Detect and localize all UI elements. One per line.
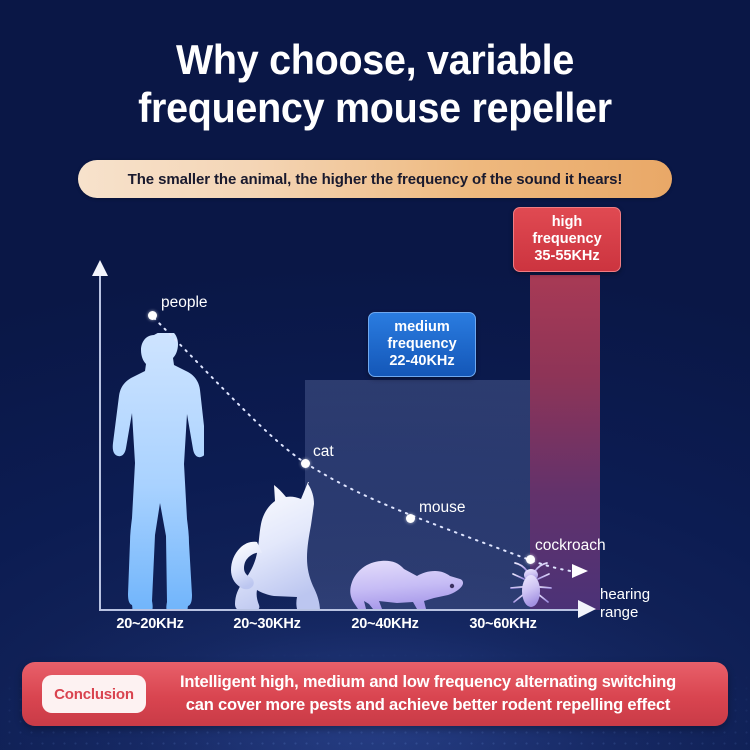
high-frequency-badge: high frequency 35-55KHz	[513, 207, 621, 272]
medium-badge-line-2: frequency	[379, 336, 465, 353]
medium-badge-line-1: medium	[379, 319, 465, 336]
data-label-mouse: mouse	[419, 499, 466, 517]
x-axis-arrow-icon	[578, 600, 596, 618]
conclusion-line-1: Intelligent high, medium and low frequen…	[180, 673, 676, 691]
data-point-mouse	[406, 514, 415, 523]
high-badge-line-1: high	[524, 214, 610, 231]
conclusion-bar: Conclusion Intelligent high, medium and …	[22, 662, 728, 726]
high-badge-line-3: 35-55KHz	[524, 248, 610, 265]
x-tick-label-1: 20~20KHz	[95, 616, 205, 632]
conclusion-text: Intelligent high, medium and low frequen…	[146, 671, 728, 717]
data-label-cockroach: cockroach	[535, 537, 606, 555]
infographic-page: Why choose, variable frequency mouse rep…	[0, 0, 750, 750]
conclusion-line-2: can cover more pests and achieve better …	[146, 694, 710, 717]
medium-frequency-badge: medium frequency 22-40KHz	[368, 312, 476, 377]
data-label-cat: cat	[313, 443, 334, 461]
conclusion-pill-label: Conclusion	[54, 686, 134, 703]
x-tick-label-3: 20~40KHz	[330, 616, 440, 632]
frequency-chart: people cat mouse cockroach high frequenc…	[0, 0, 750, 660]
data-point-cockroach	[526, 555, 535, 564]
x-axis-line	[99, 609, 581, 611]
data-label-people: people	[161, 294, 208, 312]
medium-badge-line-3: 22-40KHz	[379, 353, 465, 370]
data-point-people	[148, 311, 157, 320]
data-point-cat	[301, 459, 310, 468]
x-axis-caption: hearing range	[600, 586, 680, 622]
x-tick-label-2: 20~30KHz	[212, 616, 322, 632]
x-tick-label-4: 30~60KHz	[448, 616, 558, 632]
y-axis-arrow-icon	[92, 260, 108, 276]
y-axis-line	[99, 272, 101, 610]
x-axis-caption-line-2: range	[600, 604, 680, 622]
x-axis-caption-line-1: hearing	[600, 586, 680, 604]
high-badge-line-2: frequency	[524, 231, 610, 248]
conclusion-pill: Conclusion	[42, 675, 146, 713]
